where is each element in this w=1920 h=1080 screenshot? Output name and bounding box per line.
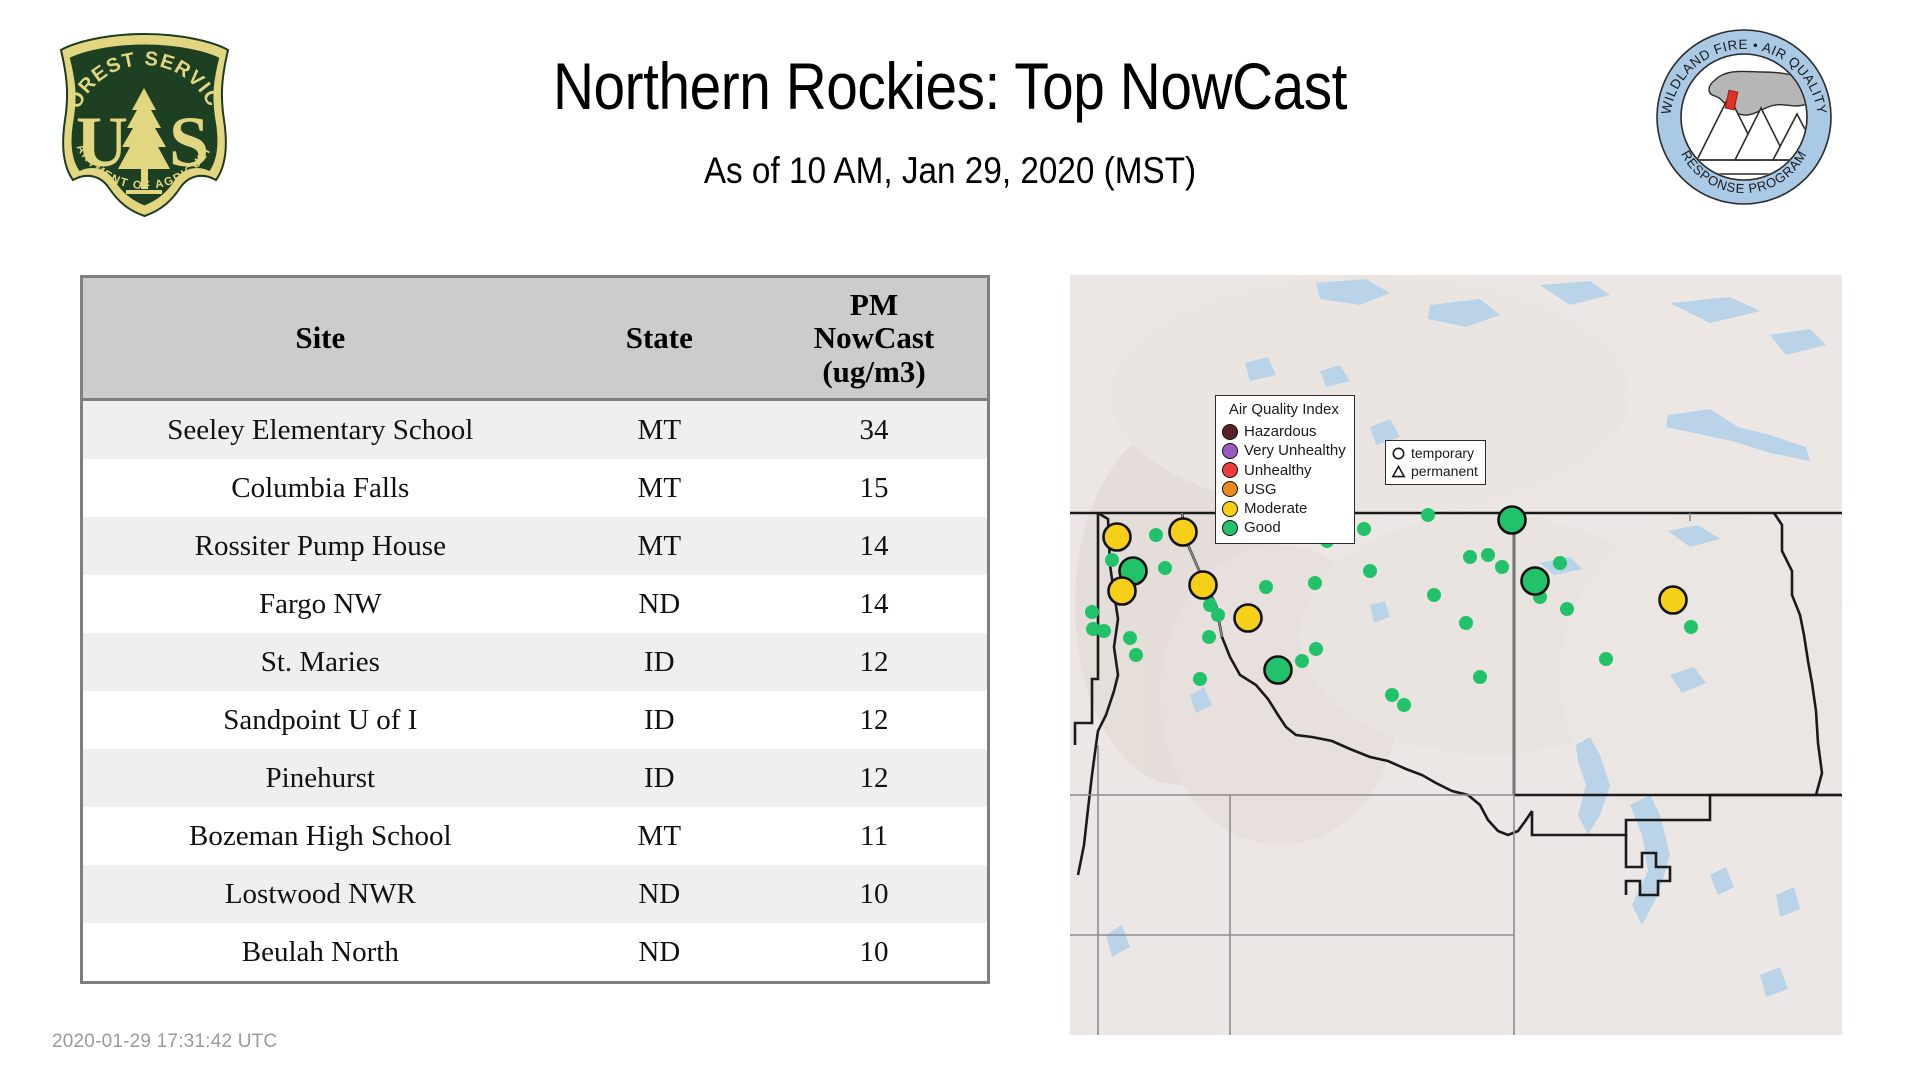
aqi-legend-item-moderate: Moderate: [1222, 499, 1346, 518]
aqi-map[interactable]: [1070, 275, 1842, 1035]
cell-state: ID: [558, 633, 761, 691]
aqi-swatch-usg: [1222, 481, 1238, 497]
cell-pm: 12: [761, 749, 987, 807]
cell-state: ID: [558, 691, 761, 749]
table-row: Fargo NW ND 14: [83, 575, 987, 633]
generated-timestamp: 2020-01-29 17:31:42 UTC: [52, 1031, 277, 1053]
table-header-row: Site State PM NowCast (ug/m3): [83, 278, 987, 400]
monitor-type-legend: temporary permanent: [1385, 440, 1486, 485]
table-row: Beulah North ND 10: [83, 923, 987, 981]
cell-pm: 12: [761, 691, 987, 749]
monitor-label-permanent: permanent: [1411, 462, 1478, 480]
aqi-legend-item-hazardous: Hazardous: [1222, 422, 1346, 441]
cell-site: Beulah North: [83, 923, 558, 981]
nowcast-table: Site State PM NowCast (ug/m3) Seeley Ele…: [83, 278, 987, 981]
table-row: Lostwood NWR ND 10: [83, 865, 987, 923]
cell-state: ND: [558, 575, 761, 633]
triangle-icon: [1391, 464, 1406, 479]
page-subtitle: As of 10 AM, Jan 29, 2020 (MST): [320, 150, 1580, 192]
table-row: Sandpoint U of I ID 12: [83, 691, 987, 749]
aqi-label-hazardous: Hazardous: [1244, 422, 1317, 441]
site-marker[interactable]: [1522, 568, 1549, 595]
cell-pm: 10: [761, 923, 987, 981]
cell-site: Bozeman High School: [83, 807, 558, 865]
aqi-label-unhealthy: Unhealthy: [1244, 461, 1312, 480]
aqi-legend-item-unhealthy: Unhealthy: [1222, 461, 1346, 480]
column-header-pm-nowcast: PM NowCast (ug/m3): [761, 278, 987, 400]
site-marker[interactable]: [1265, 657, 1292, 684]
air-quality-index-legend: Air Quality Index Hazardous Very Unhealt…: [1215, 395, 1355, 544]
aqi-label-very-unhealthy: Very Unhealthy: [1244, 441, 1346, 460]
cell-state: ID: [558, 749, 761, 807]
cell-state: ND: [558, 865, 761, 923]
cell-pm: 14: [761, 517, 987, 575]
nowcast-table-body: Seeley Elementary School MT 34 Columbia …: [83, 400, 987, 982]
monitor-legend-item-permanent: permanent: [1391, 462, 1478, 480]
cell-pm: 11: [761, 807, 987, 865]
table-row: St. Maries ID 12: [83, 633, 987, 691]
cell-site: Pinehurst: [83, 749, 558, 807]
table-row: Bozeman High School MT 11: [83, 807, 987, 865]
site-marker[interactable]: [1190, 572, 1217, 599]
cell-pm: 14: [761, 575, 987, 633]
column-header-pm-line3: (ug/m3): [761, 355, 987, 388]
site-marker[interactable]: [1660, 587, 1687, 614]
table-row: Pinehurst ID 12: [83, 749, 987, 807]
site-marker[interactable]: [1104, 524, 1131, 551]
usfs-shield-logo: FOREST SERVICE DEPARTMENT OF AGRICULTURE…: [52, 30, 237, 220]
aqi-label-usg: USG: [1244, 480, 1277, 499]
table-row: Rossiter Pump House MT 14: [83, 517, 987, 575]
cell-site: Seeley Elementary School: [83, 400, 558, 460]
column-header-site: Site: [83, 278, 558, 400]
column-header-pm-line1: PM: [761, 288, 987, 321]
aqi-swatch-hazardous: [1222, 424, 1238, 440]
aqi-label-good: Good: [1244, 518, 1281, 537]
cell-state: ND: [558, 923, 761, 981]
cell-state: MT: [558, 459, 761, 517]
site-marker[interactable]: [1109, 578, 1136, 605]
aqi-label-moderate: Moderate: [1244, 499, 1307, 518]
cell-pm: 12: [761, 633, 987, 691]
table-row: Seeley Elementary School MT 34: [83, 400, 987, 460]
cell-state: MT: [558, 807, 761, 865]
usfs-logo-letter-u: U: [76, 102, 128, 182]
site-marker[interactable]: [1235, 605, 1262, 632]
site-marker[interactable]: [1170, 519, 1197, 546]
cell-site: Rossiter Pump House: [83, 517, 558, 575]
table-row: Columbia Falls MT 15: [83, 459, 987, 517]
monitor-legend-item-temporary: temporary: [1391, 444, 1478, 462]
column-header-pm-line2: NowCast: [761, 321, 987, 354]
cell-state: MT: [558, 517, 761, 575]
aqi-legend-item-usg: USG: [1222, 480, 1346, 499]
column-header-state: State: [558, 278, 761, 400]
cell-site: Fargo NW: [83, 575, 558, 633]
cell-state: MT: [558, 400, 761, 460]
aqi-swatch-very-unhealthy: [1222, 443, 1238, 459]
cell-pm: 10: [761, 865, 987, 923]
cell-site: Sandpoint U of I: [83, 691, 558, 749]
cell-site: Columbia Falls: [83, 459, 558, 517]
cell-pm: 34: [761, 400, 987, 460]
aqi-swatch-unhealthy: [1222, 462, 1238, 478]
usfs-logo-letter-s: S: [169, 102, 209, 182]
aqi-swatch-good: [1222, 520, 1238, 536]
nowcast-table-container: Site State PM NowCast (ug/m3) Seeley Ele…: [80, 275, 990, 984]
circle-icon: [1391, 446, 1406, 461]
aqi-legend-item-good: Good: [1222, 518, 1346, 537]
monitor-label-temporary: temporary: [1411, 444, 1474, 462]
cell-site: St. Maries: [83, 633, 558, 691]
wfaqrp-logo: WILDLAND FIRE • AIR QUALITY RESPONSE PRO…: [1655, 28, 1833, 206]
cell-site: Lostwood NWR: [83, 865, 558, 923]
aqi-swatch-moderate: [1222, 501, 1238, 517]
cell-pm: 15: [761, 459, 987, 517]
aqi-legend-item-very-unhealthy: Very Unhealthy: [1222, 441, 1346, 460]
aqi-legend-title: Air Quality Index: [1222, 400, 1346, 419]
page-title: Northern Rockies: Top NowCast: [348, 52, 1552, 121]
site-marker[interactable]: [1499, 507, 1526, 534]
